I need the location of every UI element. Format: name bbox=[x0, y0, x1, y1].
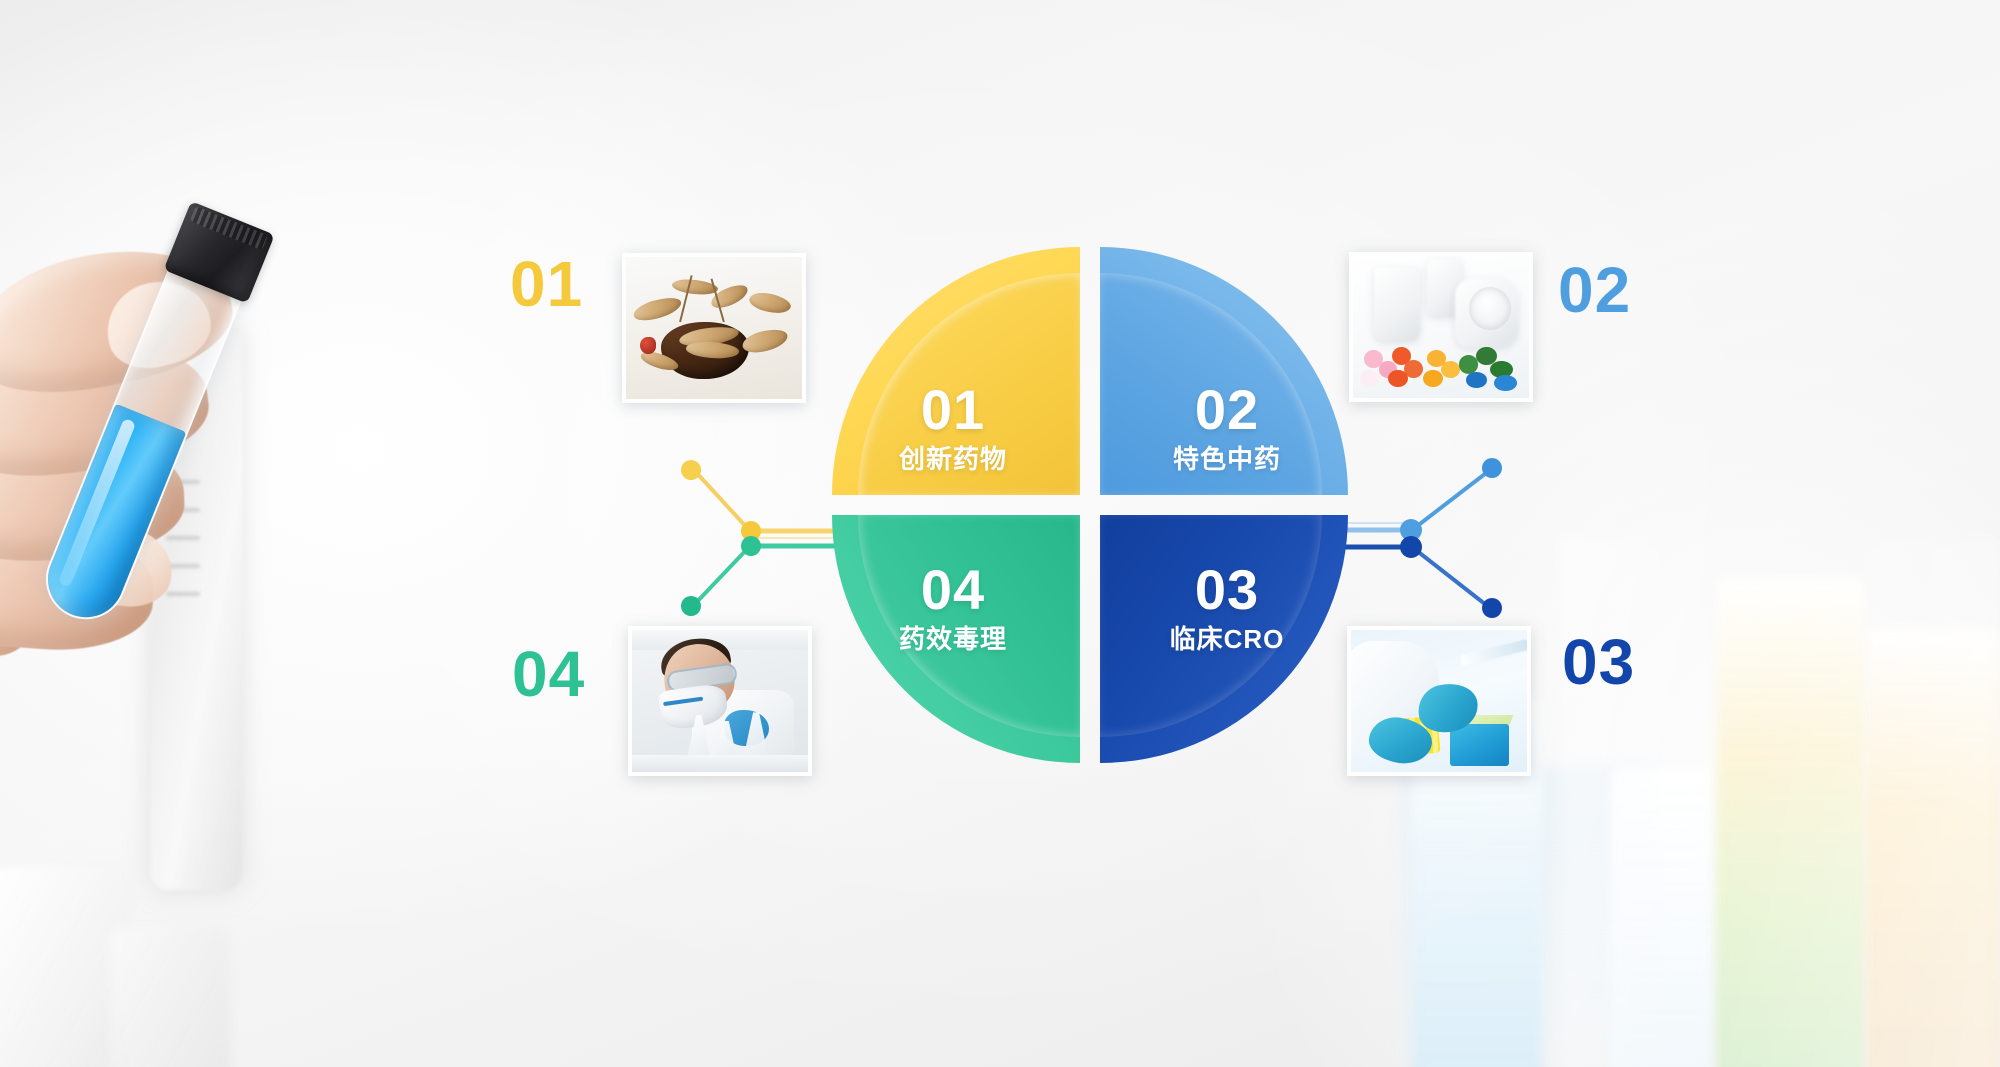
quadrant-04[interactable]: 04 药效毒理 bbox=[832, 515, 1080, 763]
quadrant-01-label: 创新药物 bbox=[832, 442, 1074, 477]
quadrant-01[interactable]: 01 创新药物 bbox=[832, 247, 1080, 495]
outer-number-04: 04 bbox=[512, 642, 585, 706]
outer-number-03: 03 bbox=[1562, 630, 1635, 694]
thumbnail-03-lab-gloves[interactable] bbox=[1347, 626, 1531, 776]
quadrant-01-text: 01 创新药物 bbox=[832, 381, 1080, 477]
quadrant-02-number: 02 bbox=[1106, 381, 1348, 438]
quadrant-04-number: 04 bbox=[832, 561, 1074, 618]
outer-number-01: 01 bbox=[510, 252, 583, 316]
quadrant-03-label: 临床CRO bbox=[1106, 622, 1348, 657]
quadrant-04-label: 药效毒理 bbox=[832, 622, 1074, 657]
quadrant-02-text: 02 特色中药 bbox=[1100, 381, 1348, 477]
thumbnail-01-herbs[interactable] bbox=[622, 253, 806, 403]
outer-number-02: 02 bbox=[1558, 258, 1631, 322]
quadrant-03[interactable]: 03 临床CRO bbox=[1100, 515, 1348, 763]
infographic-canvas: 01 创新药物 02 特色中药 03 临床CRO 04 药效毒理 bbox=[0, 0, 2000, 1067]
thumbnail-04-scientist[interactable] bbox=[628, 626, 812, 776]
quadrant-02-label: 特色中药 bbox=[1106, 442, 1348, 477]
thumbnail-02-pills[interactable] bbox=[1349, 252, 1533, 402]
quadrant-04-text: 04 药效毒理 bbox=[832, 561, 1080, 657]
quadrant-02[interactable]: 02 特色中药 bbox=[1100, 247, 1348, 495]
quadrant-01-number: 01 bbox=[832, 381, 1074, 438]
center-quadrant-wheel: 01 创新药物 02 特色中药 03 临床CRO 04 药效毒理 bbox=[832, 247, 1348, 763]
quadrant-03-number: 03 bbox=[1106, 561, 1348, 618]
quadrant-03-text: 03 临床CRO bbox=[1100, 561, 1348, 657]
